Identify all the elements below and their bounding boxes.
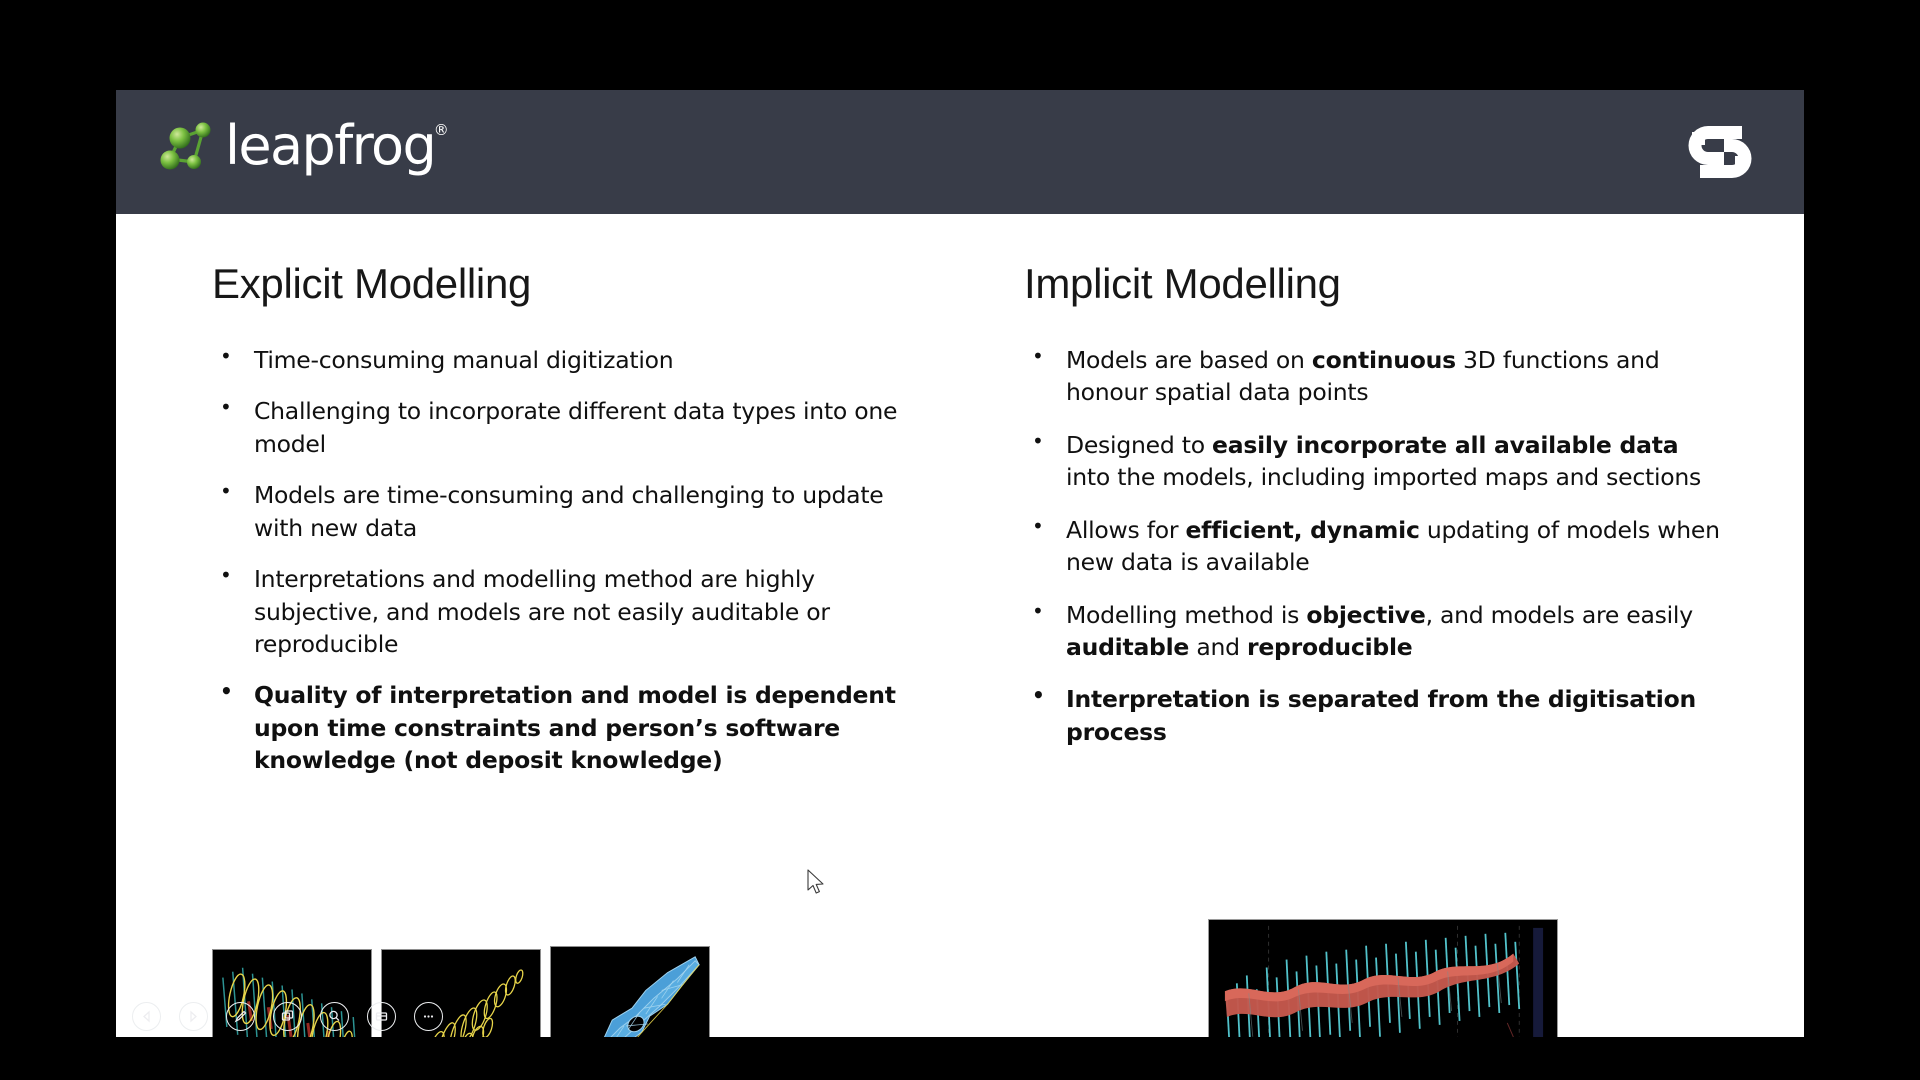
leapfrog-nodes-icon xyxy=(153,115,215,177)
presentation-toolbar[interactable] xyxy=(116,1002,1804,1031)
ellipsis-icon xyxy=(420,1008,437,1025)
heading-implicit-modelling: Implicit Modelling xyxy=(1024,260,1724,308)
slide-panel-button[interactable] xyxy=(367,1002,396,1031)
screenshot-button[interactable] xyxy=(273,1002,302,1031)
slide-header-band: leapfrog ® xyxy=(116,90,1804,214)
leapfrog-logo: leapfrog ® xyxy=(153,115,447,177)
list-item: Designed to easily incorporate all avail… xyxy=(1024,429,1724,494)
slide-canvas: leapfrog ® Explicit Modelling Time-cons xyxy=(116,90,1804,1037)
next-slide-button[interactable] xyxy=(179,1002,208,1031)
panel-icon xyxy=(373,1008,390,1025)
camera-copy-icon xyxy=(279,1008,296,1025)
slide-body: Explicit Modelling Time-consuming manual… xyxy=(116,214,1804,1037)
list-item: Challenging to incorporate different dat… xyxy=(212,395,932,460)
pen-icon xyxy=(232,1008,249,1025)
zoom-button[interactable] xyxy=(320,1002,349,1031)
list-item: Quality of interpretation and model is d… xyxy=(212,679,932,776)
list-item: Interpretations and modelling method are… xyxy=(212,563,932,660)
registered-trademark-icon: ® xyxy=(434,123,447,138)
previous-slide-button[interactable] xyxy=(132,1002,161,1031)
bullet-list-explicit: Time-consuming manual digitization Chall… xyxy=(212,344,932,777)
bullet-list-implicit: Models are based on continuous 3D functi… xyxy=(1024,344,1724,748)
magnifier-icon xyxy=(326,1008,343,1025)
list-item: Time-consuming manual digitization xyxy=(212,344,932,376)
brand-name-text: leapfrog xyxy=(225,114,435,177)
list-item: Interpretation is separated from the dig… xyxy=(1024,683,1724,748)
list-item: Models are based on continuous 3D functi… xyxy=(1024,344,1724,409)
list-item: Modelling method is objective, and model… xyxy=(1024,599,1724,664)
presentation-viewer: leapfrog ® Explicit Modelling Time-cons xyxy=(0,0,1920,1080)
column-explicit-modelling: Explicit Modelling Time-consuming manual… xyxy=(212,214,932,796)
triangle-right-icon xyxy=(185,1008,202,1025)
more-options-button[interactable] xyxy=(414,1002,443,1031)
leapfrog-wordmark: leapfrog ® xyxy=(225,119,447,173)
triangle-left-icon xyxy=(138,1008,155,1025)
heading-explicit-modelling: Explicit Modelling xyxy=(212,260,932,308)
list-item: Allows for efficient, dynamic updating o… xyxy=(1024,514,1724,579)
list-item: Models are time-consuming and challengin… xyxy=(212,479,932,544)
column-implicit-modelling: Implicit Modelling Models are based on c… xyxy=(1024,214,1724,768)
seequent-s-logo-icon xyxy=(1684,118,1756,186)
pen-annotate-button[interactable] xyxy=(226,1002,255,1031)
